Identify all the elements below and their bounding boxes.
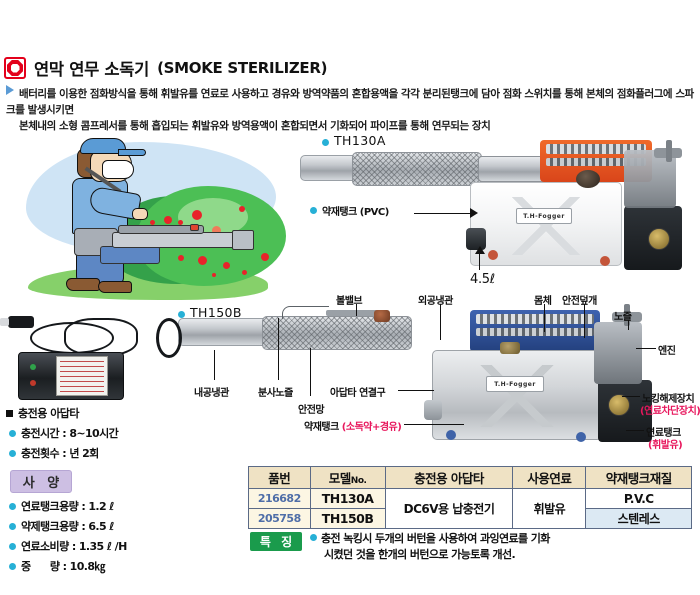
th130a-foot — [600, 256, 610, 266]
blue-triangle-icon — [6, 85, 14, 95]
leader-line — [440, 304, 441, 340]
th-fogger-logo-plate: T.H-Fogger — [486, 376, 544, 392]
callout-body: 몸체 — [534, 292, 551, 307]
leader-line — [356, 304, 357, 316]
fogger-barrel — [112, 232, 242, 248]
th-adapter: 충전용 아답타 — [385, 467, 513, 489]
berry — [261, 253, 269, 261]
circle-bullet-icon — [310, 534, 317, 541]
feature-line-2: 시켰던 것을 한개의 버턴으로 가능토록 개선. — [310, 547, 690, 563]
description-line-2: 본체내의 소형 콤프레서를 통해 흡입되는 휘발유와 방역용액이 혼합되면서 기… — [6, 118, 696, 134]
leader-line — [628, 320, 629, 330]
th130a-outlet-pipe — [300, 155, 360, 181]
worker-shoe — [66, 278, 100, 291]
th130a-fuel-cap — [576, 170, 600, 188]
cell-adapter: DC6V용 납충전기 — [385, 489, 513, 529]
th-part-no: 품번 — [249, 467, 311, 489]
cell-fuel: 휘발유 — [513, 489, 586, 529]
circle-bullet-icon — [9, 430, 16, 437]
description-block: 배터리를 이용한 점화방식을 통해 휘발유를 연료로 사용하고 경유와 방역약품… — [6, 85, 696, 134]
leader-arrow — [470, 208, 478, 218]
feature-line-1: 충전 녹킹시 두개의 버턴을 사용하여 과잉연료를 기화 — [321, 532, 550, 545]
berry — [212, 273, 216, 277]
adapter-ac-plug — [8, 316, 34, 328]
callout-ball-valve: 볼밸브 — [336, 292, 362, 307]
callout-knock-release-device-sub: (연료차단장치) — [640, 402, 700, 417]
red-octagon-icon — [4, 57, 26, 79]
specification-list: 연료탱크용량 : 1.2 ℓ 약제탱크용량 : 6.5 ℓ 연료소비량 : 1.… — [6, 498, 216, 578]
adapter-item-charge-count: 충전횟수 : 년 2회 — [6, 445, 216, 461]
circle-bullet-icon — [9, 523, 16, 530]
feature-text: 충전 녹킹시 두개의 버턴을 사용하여 과잉연료를 기화 시켰던 것을 한개의 … — [310, 531, 690, 563]
callout-chemical-tank-bottom: 약재탱크 (소독약+경유) — [304, 418, 401, 433]
cell-tank-material-2: 스텐레스 — [586, 509, 692, 529]
spec-badge: 사 양 — [10, 470, 72, 493]
model-label-th130a: TH130A — [334, 133, 386, 148]
th130a-battery-terminal — [648, 228, 670, 250]
th-model: 모델No. — [310, 467, 385, 489]
callout-fuel-tank-sub: (휘발유) — [648, 436, 682, 451]
leader-line — [414, 213, 472, 214]
callout-inner-cooling-pipe: 내공냉관 — [194, 384, 229, 399]
title-korean: 연막 연무 소독기 — [34, 56, 149, 80]
worker-spraying-illustration — [18, 138, 308, 303]
worker-hand — [132, 208, 148, 220]
berry — [239, 206, 245, 212]
leader-line — [626, 430, 644, 431]
product-spec-table: 품번 모델No. 충전용 아답타 사용연료 약재탱크재질 216682 TH13… — [248, 466, 692, 529]
fogger-tank — [100, 246, 160, 264]
th150b-cooling-tubes — [476, 328, 594, 336]
leader-arrow — [475, 246, 485, 254]
bullet-dot-icon — [310, 207, 317, 214]
feature-badge: 특 징 — [250, 532, 302, 551]
worker-cap-brim — [118, 149, 146, 156]
title-english: (SMOKE STERILIZER) — [157, 59, 327, 77]
th130a-resonator — [478, 156, 548, 182]
adapter-green-led — [30, 364, 36, 370]
callout-tank-volume: 4.5ℓ — [470, 272, 495, 287]
leader-line — [544, 304, 545, 332]
worker-figure — [46, 138, 156, 296]
adapter-heading: 충전용 아답타 — [6, 405, 216, 421]
circle-bullet-icon — [9, 503, 16, 510]
table-header-row: 품번 모델No. 충전용 아답타 사용연료 약재탱크재질 — [249, 467, 692, 489]
adapter-cable — [64, 318, 138, 356]
th150b-foot — [446, 430, 456, 440]
adapter-red-led — [30, 380, 36, 386]
leader-line — [622, 396, 640, 397]
spec-item-fuel-consumption: 연료소비량 : 1.35 ℓ /H — [6, 538, 216, 554]
th130a-safety-mesh — [352, 152, 482, 186]
circle-bullet-icon — [9, 543, 16, 550]
th150b-engine — [594, 322, 642, 384]
berry — [223, 262, 230, 269]
catalog-page: 연막 연무 소독기 (SMOKE STERILIZER) 배터리를 이용한 점화… — [0, 0, 700, 595]
callout-spray-nozzle: 분사노즐 — [258, 384, 293, 399]
callout-safety-net: 안전망 — [298, 401, 324, 416]
circle-bullet-icon — [9, 450, 16, 457]
face-mask-icon — [102, 160, 134, 179]
th150b-hose-coil — [156, 318, 182, 358]
th130a-nozzle-stem — [666, 140, 672, 162]
leader-line — [310, 348, 311, 396]
callout-chemical-tank-pvc: 약재탱크 (PVC) — [322, 203, 389, 218]
adapter-item-charge-time: 충전시간 : 8~10시간 — [6, 425, 216, 441]
adapter-spec-label — [56, 356, 108, 396]
th-fogger-logo-plate: T.H-Fogger — [516, 208, 572, 224]
bullet-dot-icon — [178, 311, 185, 318]
callout-outer-cooling-pipe: 외공냉관 — [418, 292, 453, 307]
cell-part-no-1: 216682 — [249, 489, 311, 509]
model-label-th150b: TH150B — [190, 305, 242, 320]
description-line-1: 배터리를 이용한 점화방식을 통해 휘발유를 연료로 사용하고 경유와 방역약품… — [6, 85, 696, 118]
th150b-cooling-tubes — [476, 314, 594, 324]
th150b-pipe-bend — [282, 306, 329, 319]
leader-line — [404, 424, 464, 425]
th150b-safety-mesh — [262, 316, 412, 350]
berry — [192, 210, 202, 220]
leader-line — [398, 390, 434, 391]
leader-line — [479, 252, 480, 270]
th150b-ball-valve — [374, 310, 390, 322]
leader-line — [584, 304, 585, 338]
leader-line — [214, 350, 215, 380]
adapter-spec-list: 충전용 아답타 충전시간 : 8~10시간 충전횟수 : 년 2회 — [6, 405, 216, 465]
callout-adapter-connector: 아답타 연결구 — [330, 384, 385, 399]
bullet-dot-icon — [322, 139, 329, 146]
spec-item-weight: 중 량 : 10.8㎏ — [6, 558, 216, 574]
leader-line — [636, 348, 656, 349]
th150b-inner-cooling-pipe — [178, 318, 268, 346]
fogger-muzzle — [232, 230, 254, 250]
leader-line — [278, 318, 279, 380]
circle-bullet-icon — [9, 563, 16, 570]
callout-safety-cover: 안전덮개 — [562, 292, 597, 307]
th-tank-material: 약재탱크재질 — [586, 467, 692, 489]
th130a-foot — [488, 250, 498, 260]
th-fuel: 사용연료 — [513, 467, 586, 489]
cell-tank-material-1: P.V.C — [586, 489, 692, 509]
table-row: 216682 TH130A DC6V용 납충전기 휘발유 P.V.C — [249, 489, 692, 509]
cell-model-1: TH130A — [310, 489, 385, 509]
callout-engine: 엔진 — [658, 342, 675, 357]
spec-item-chemical-tank-capacity: 약제탱크용량 : 6.5 ℓ — [6, 518, 216, 534]
worker-shoe — [98, 281, 132, 293]
illustrated-fogger — [74, 222, 254, 262]
fogger-trigger — [190, 224, 199, 231]
th150b-upper-tube — [326, 310, 378, 316]
th150b-filler-cap — [500, 342, 520, 354]
cell-model-2: TH150B — [310, 509, 385, 529]
square-bullet-icon — [6, 410, 13, 417]
page-title: 연막 연무 소독기 (SMOKE STERILIZER) — [4, 56, 327, 80]
cell-part-no-2: 205758 — [249, 509, 311, 529]
berry — [242, 270, 247, 275]
th150b-drain-cap — [424, 400, 442, 420]
th150b-foot — [576, 432, 586, 442]
spec-item-fuel-tank-capacity: 연료탱크용량 : 1.2 ℓ — [6, 498, 216, 514]
th150b-chemical-tank — [432, 350, 602, 440]
